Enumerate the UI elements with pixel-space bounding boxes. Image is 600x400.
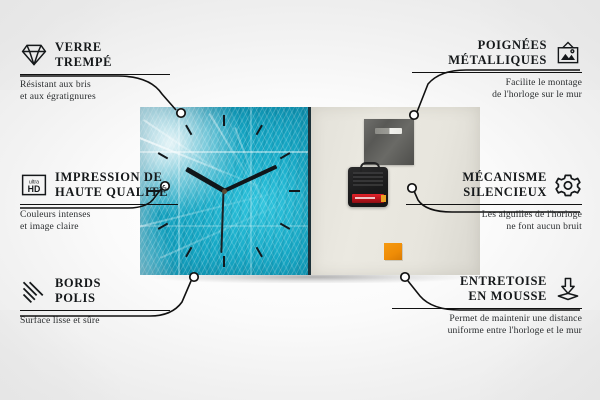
feature-impression-hd: ultra HD IMPRESSION DEHAUTE QUALITÉ Coul… bbox=[20, 170, 178, 234]
feature-subtitle-line1: Résistant aux bris bbox=[20, 79, 91, 90]
feature-title-line1: MÉCANISME bbox=[462, 170, 547, 184]
divider bbox=[20, 204, 178, 205]
feature-subtitle-line2: ne font aucun bruit bbox=[506, 221, 582, 232]
wall-mount-frame-icon bbox=[554, 40, 582, 66]
feature-title-line2: HAUTE QUALITÉ bbox=[55, 185, 168, 199]
battery-label bbox=[355, 197, 375, 199]
feature-subtitle-line2: uniforme entre l'horloge et le mur bbox=[448, 325, 582, 336]
foam-spacer-pad bbox=[384, 243, 402, 260]
feature-title-line2: SILENCIEUX bbox=[463, 185, 547, 199]
battery bbox=[352, 194, 384, 203]
feature-entretoise-mousse: ENTRETOISEEN MOUSSE Permet de maintenir … bbox=[392, 274, 582, 338]
polished-edges-icon bbox=[20, 278, 48, 304]
gear-icon bbox=[554, 172, 582, 198]
feature-subtitle-line1: Facilite le montage bbox=[506, 77, 582, 88]
feature-subtitle-line1: Surface lisse et sûre bbox=[20, 315, 100, 326]
metal-hanger-plate bbox=[364, 119, 414, 165]
svg-text:HD: HD bbox=[28, 184, 41, 194]
feature-verre-trempe: VERRETREMPÉ Résistant aux briset aux égr… bbox=[20, 40, 170, 104]
diamond-icon bbox=[20, 42, 48, 68]
feature-subtitle-line1: Les aiguilles de l'horloge bbox=[482, 209, 582, 220]
feature-bords-polis: BORDSPOLIS Surface lisse et sûre bbox=[20, 276, 170, 327]
feature-poignees-metalliques: POIGNÉESMÉTALLIQUES Facilite le montaged… bbox=[412, 38, 582, 102]
feature-subtitle-line1: Couleurs intenses bbox=[20, 209, 91, 220]
feature-title-line2: POLIS bbox=[55, 291, 96, 305]
feature-title-line1: ENTRETOISE bbox=[460, 274, 547, 288]
feature-title-line1: POIGNÉES bbox=[478, 38, 547, 52]
feature-mecanisme-silencieux: MÉCANISMESILENCIEUX Les aiguilles de l'h… bbox=[406, 170, 582, 234]
divider bbox=[20, 74, 170, 75]
divider bbox=[406, 204, 582, 205]
feature-title-line1: VERRE bbox=[55, 40, 102, 54]
battery-positive-terminal bbox=[381, 195, 386, 202]
infographic-canvas: VERRETREMPÉ Résistant aux briset aux égr… bbox=[0, 0, 600, 400]
feature-title-line2: MÉTALLIQUES bbox=[448, 53, 547, 67]
divider bbox=[20, 310, 170, 311]
ultra-hd-icon: ultra HD bbox=[20, 172, 48, 198]
foam-spacer-arrow-icon bbox=[554, 276, 582, 302]
hands-center-pin bbox=[222, 189, 227, 194]
hanger-slot bbox=[375, 128, 402, 134]
feature-title-line1: BORDS bbox=[55, 276, 101, 290]
feature-title-line2: TREMPÉ bbox=[55, 55, 112, 69]
feature-title-line2: EN MOUSSE bbox=[468, 289, 547, 303]
feature-subtitle-line1: Permet de maintenir une distance bbox=[449, 313, 582, 324]
divider bbox=[412, 72, 582, 73]
feature-subtitle-line2: de l'horloge sur le mur bbox=[492, 89, 582, 100]
mechanism-vents bbox=[353, 172, 383, 186]
feature-subtitle-line2: et aux égratignures bbox=[20, 91, 96, 102]
feature-subtitle-line2: et image claire bbox=[20, 221, 79, 232]
divider bbox=[392, 308, 582, 309]
clock-mechanism-box bbox=[348, 167, 388, 207]
feature-title-line1: IMPRESSION DE bbox=[55, 170, 162, 184]
